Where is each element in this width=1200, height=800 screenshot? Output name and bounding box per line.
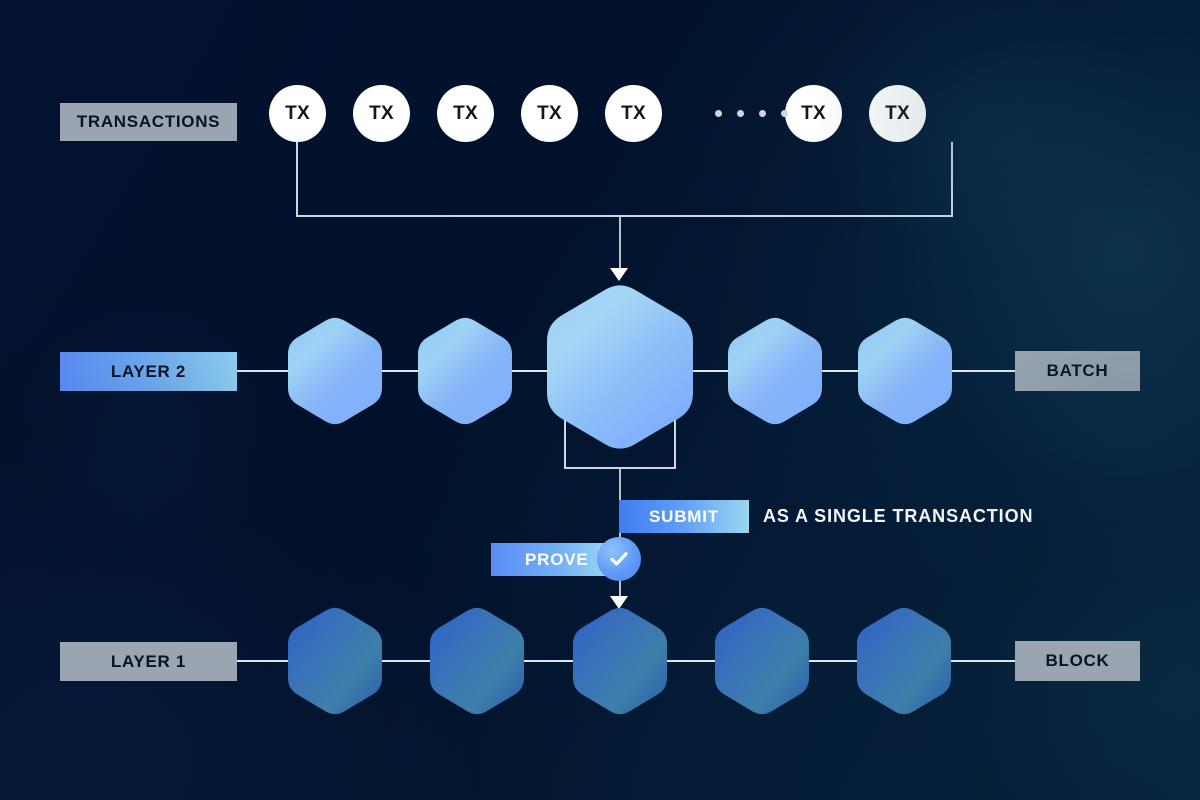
row-label-layer1-text: LAYER 1 — [111, 652, 186, 672]
tx-to-l2-arrowhead — [610, 268, 628, 281]
l2-line-hex2-center — [510, 370, 552, 372]
l1-hex-2-shape — [430, 605, 524, 717]
tx-bracket-bottom — [296, 215, 953, 217]
tx-bracket-left — [296, 142, 298, 216]
tx-circle-label: TX — [369, 103, 394, 125]
tx-circle-2[interactable]: TX — [353, 85, 410, 142]
l1-line-hex5-block — [949, 660, 1016, 662]
l2-hex-4[interactable] — [728, 315, 822, 427]
l1-line-center-hex4 — [665, 660, 718, 662]
check-icon-glyph — [606, 546, 632, 572]
check-icon[interactable] — [597, 537, 641, 581]
l2-line-hex5-batch — [950, 370, 1016, 372]
l1-hex-2[interactable] — [430, 605, 524, 717]
diagram-canvas: TRANSACTIONS TXTXTXTXTXTXTX LAYER 2 BATC… — [0, 0, 1200, 800]
row-label-transactions-text: TRANSACTIONS — [77, 112, 220, 132]
l2-line-center-hex4 — [688, 370, 730, 372]
l2-line-hex4-hex5 — [820, 370, 860, 372]
tx-circle-1[interactable]: TX — [269, 85, 326, 142]
l2-hex-center[interactable] — [547, 281, 693, 453]
l1-hex-5[interactable] — [857, 605, 951, 717]
l1-hex-5-shape — [857, 605, 951, 717]
tx-circle-label: TX — [285, 103, 310, 125]
l2-bracket-left — [564, 420, 566, 468]
tx-circle-4[interactable]: TX — [521, 85, 578, 142]
submit-badge[interactable]: SUBMIT — [619, 500, 749, 533]
row-label-layer2: LAYER 2 — [60, 352, 237, 391]
ellipsis-dot-4 — [781, 110, 788, 117]
tx-circle-7[interactable]: TX — [869, 85, 926, 142]
row-label-transactions: TRANSACTIONS — [60, 103, 237, 141]
l2-hex-2[interactable] — [418, 315, 512, 427]
tx-circle-label: TX — [621, 103, 646, 125]
l2-hex-1-shape — [288, 315, 382, 427]
l2-line-hex1-hex2 — [380, 370, 420, 372]
tx-circle-6[interactable]: TX — [785, 85, 842, 142]
submit-badge-text: SUBMIT — [649, 507, 719, 527]
end-label-batch-text: BATCH — [1047, 361, 1109, 381]
l1-hex-center[interactable] — [573, 605, 667, 717]
l1-line-hex4-hex5 — [807, 660, 860, 662]
l2-hex-1[interactable] — [288, 315, 382, 427]
end-label-batch: BATCH — [1015, 351, 1140, 391]
l2-hex-5[interactable] — [858, 315, 952, 427]
prove-badge-text: PROVE — [525, 550, 589, 570]
ellipsis-dot-3 — [759, 110, 766, 117]
tx-to-l2-connector — [619, 216, 621, 271]
ellipsis-dot-1 — [715, 110, 722, 117]
l1-hex-center-shape — [573, 605, 667, 717]
l1-line-hex1-hex2 — [380, 660, 433, 662]
tx-circle-label: TX — [801, 103, 826, 125]
l1-hex-1[interactable] — [288, 605, 382, 717]
l1-hex-4[interactable] — [715, 605, 809, 717]
end-label-block-text: BLOCK — [1046, 651, 1110, 671]
l1-line-hex2-center — [522, 660, 575, 662]
single-transaction-caption-text: AS A SINGLE TRANSACTION — [763, 506, 1033, 526]
l2-hex-5-shape — [858, 315, 952, 427]
row-label-layer1: LAYER 1 — [60, 642, 237, 681]
l2-hex-center-shape — [547, 281, 693, 453]
tx-bracket-right — [951, 142, 953, 216]
ellipsis-dot-2 — [737, 110, 744, 117]
row-label-layer2-text: LAYER 2 — [111, 362, 186, 382]
l2-hex-4-shape — [728, 315, 822, 427]
tx-circle-5[interactable]: TX — [605, 85, 662, 142]
single-transaction-caption: AS A SINGLE TRANSACTION — [763, 506, 1033, 527]
l1-hex-4-shape — [715, 605, 809, 717]
tx-circle-label: TX — [453, 103, 478, 125]
tx-circle-3[interactable]: TX — [437, 85, 494, 142]
l2-bracket-right — [674, 420, 676, 468]
end-label-block: BLOCK — [1015, 641, 1140, 681]
tx-circle-label: TX — [537, 103, 562, 125]
l1-hex-1-shape — [288, 605, 382, 717]
l2-hex-2-shape — [418, 315, 512, 427]
tx-circle-label: TX — [885, 103, 910, 125]
